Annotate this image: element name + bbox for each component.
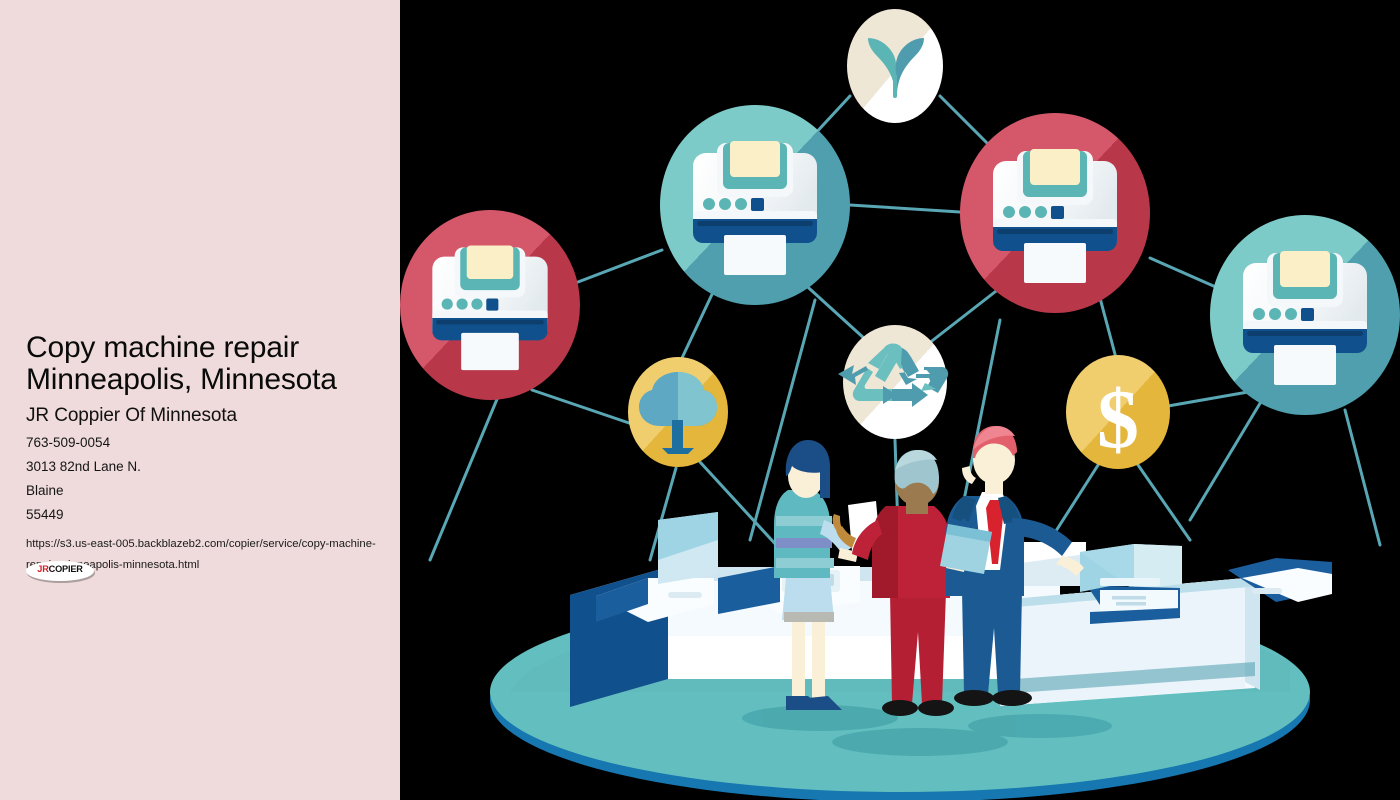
info-panel: Copy machine repair Minneapolis, Minneso… [0, 0, 400, 800]
brand-logo: JRCOPIER [26, 561, 94, 581]
copier-node-1 [660, 105, 850, 305]
illustration-panel: $ [400, 0, 1400, 800]
link-copier1-to-copier2 [850, 205, 960, 212]
tree-node [628, 357, 728, 467]
link-copier4-to-dollar [1168, 392, 1248, 406]
link-copier2-to-recycle [928, 288, 1000, 344]
recycle-node [838, 325, 948, 439]
page-title: Copy machine repair Minneapolis, Minneso… [26, 332, 382, 396]
logo-text: JRCOPIER [26, 565, 94, 574]
logo-copier-text: COPIER [49, 564, 83, 574]
link-copier2-to-dollar [1100, 298, 1116, 358]
copier-node-3 [400, 210, 580, 400]
page-root: Copy machine repair Minneapolis, Minneso… [0, 0, 1400, 800]
link-copier4-down-2 [1190, 400, 1262, 520]
phone-number: 763-509-0054 [26, 435, 382, 452]
illustration-graphic: $ [400, 0, 1400, 800]
link-copier3-to-tree [532, 390, 632, 424]
city-name: Blaine [26, 483, 382, 500]
dollar-node: $ [1066, 355, 1170, 469]
zip-code: 55449 [26, 507, 382, 524]
street-address: 3013 82nd Lane N. [26, 459, 382, 476]
printer-device [1080, 544, 1182, 624]
info-content: Copy machine repair Minneapolis, Minneso… [26, 332, 382, 576]
svg-text:$: $ [1097, 373, 1139, 466]
link-copier1-to-tree [682, 288, 715, 358]
copier-node-2 [960, 113, 1150, 313]
link-copier1-to-recycle [800, 280, 866, 340]
monitor-screen [658, 512, 718, 584]
link-copier1-to-copier3 [578, 250, 662, 282]
company-name: JR Coppier Of Minnesota [26, 405, 382, 428]
link-copier3-down [430, 392, 500, 560]
link-copier4-down [1345, 410, 1380, 545]
copier-node-4 [1210, 215, 1400, 415]
link-copier2-to-copier4 [1150, 258, 1218, 288]
link-dollar-down-2 [1136, 462, 1190, 540]
leaf-node [847, 9, 943, 123]
logo-jr-text: JR [37, 564, 48, 574]
dollar-icon: $ [1097, 373, 1139, 466]
